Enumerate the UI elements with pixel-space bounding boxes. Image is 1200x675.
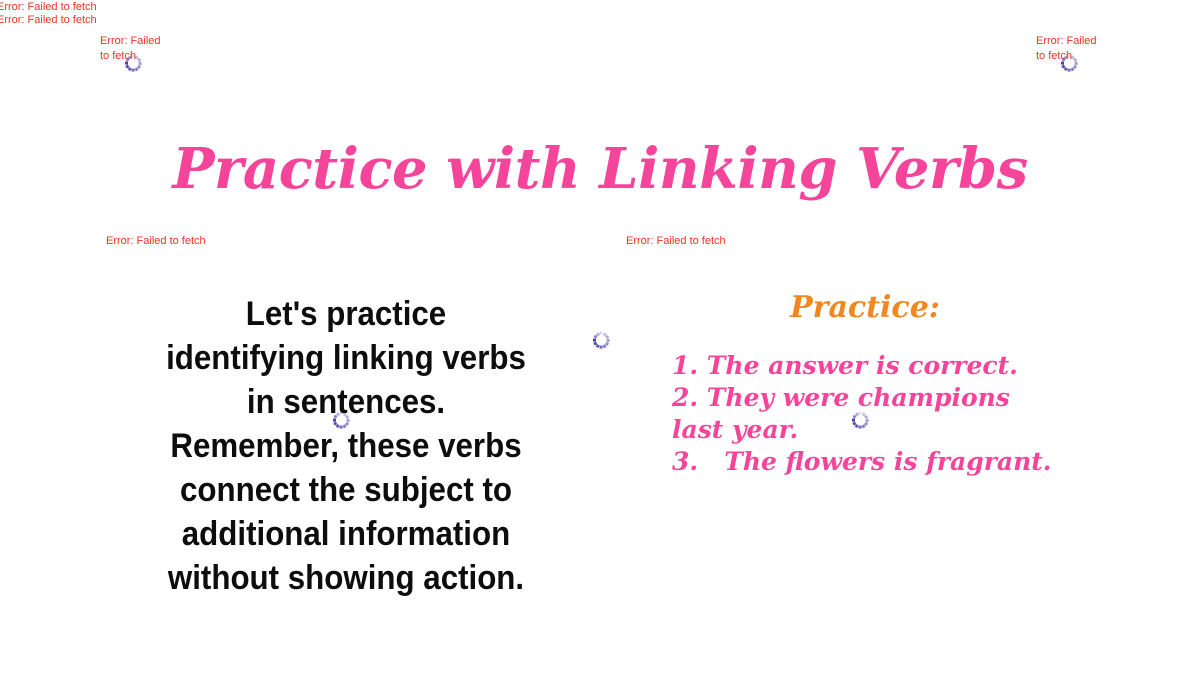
error-message-mid-left: Error: Failed to fetch [106,234,206,249]
loading-spinner-icon [124,54,142,72]
list-item: 3. The flowers is fragrant. [672,446,1064,478]
page-title: Practice with Linking Verbs [0,133,1200,205]
slide-canvas: Error: Failed to fetch Error: Failed to … [0,0,1200,675]
error-message-mid-right: Error: Failed to fetch [626,234,726,249]
practice-heading: Practice: [672,288,1058,328]
loading-spinner-icon [332,411,350,429]
error-message-top-left-b: Error: Failed to fetch [0,13,97,28]
loading-spinner-icon [1060,54,1078,72]
loading-spinner-icon [851,411,869,429]
left-body-text: Let's practice identifying linking verbs… [166,292,527,600]
loading-spinner-icon [592,331,610,349]
list-item: 1. The answer is correct. [672,350,1064,382]
